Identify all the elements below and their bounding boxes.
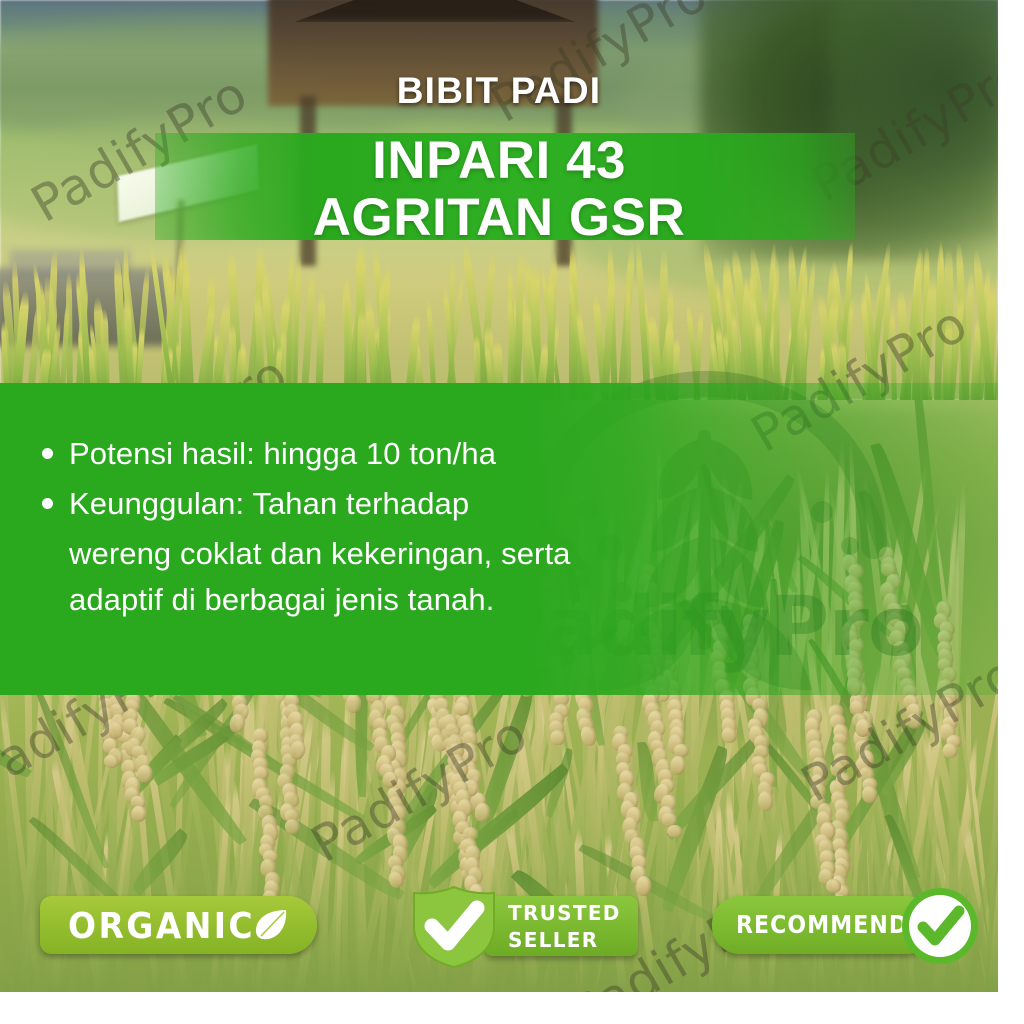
- status-badge-organic[interactable]: ORGANIC: [40, 896, 317, 954]
- feature-panel: Potensi hasil: hingga 10 ton/ha Keunggul…: [0, 383, 998, 695]
- feature-text-continued: wereng coklat dan kekeringan, serta: [32, 531, 732, 577]
- background-rice-blades: [0, 236, 998, 406]
- product-poster: PadifyPro PadifyPro PadifyPro PadifyPro …: [0, 0, 1024, 1024]
- badge-row: ORGANIC TRUSTED SELLER: [0, 884, 998, 970]
- title-line-1: INPARI 43: [372, 131, 626, 190]
- bullet-dot-icon: [42, 448, 53, 459]
- poster-kicker: BIBIT PADI: [0, 70, 998, 111]
- status-badge-trusted-seller[interactable]: TRUSTED SELLER: [406, 884, 638, 970]
- feature-list: Potensi hasil: hingga 10 ton/ha Keunggul…: [32, 431, 732, 623]
- feature-text: Keunggulan: Tahan terhadap: [69, 481, 469, 527]
- shield-check-icon: [406, 886, 502, 968]
- trusted-seller-box: TRUSTED SELLER: [484, 896, 638, 956]
- feature-text: Potensi hasil: hingga 10 ton/ha: [69, 431, 496, 477]
- feature-text-continued: adaptif di berbagai jenis tanah.: [32, 577, 732, 623]
- trusted-line-2: SELLER: [508, 927, 638, 953]
- list-item: Keunggulan: Tahan terhadap: [32, 481, 732, 527]
- page-title: INPARI 43 AGRITAN GSR: [0, 134, 998, 244]
- poster-photo-canvas: PadifyPro PadifyPro PadifyPro PadifyPro …: [0, 0, 998, 992]
- leaf-icon: [253, 907, 289, 943]
- check-circle-icon: [900, 886, 980, 966]
- list-item: Potensi hasil: hingga 10 ton/ha: [32, 431, 732, 477]
- trusted-line-1: TRUSTED: [508, 899, 638, 927]
- bullet-dot-icon: [42, 498, 53, 509]
- organic-label: ORGANIC: [68, 904, 255, 946]
- title-block: BIBIT PADI INPARI 43 AGRITAN GSR: [0, 70, 998, 111]
- title-line-2: AGRITAN GSR: [0, 191, 998, 244]
